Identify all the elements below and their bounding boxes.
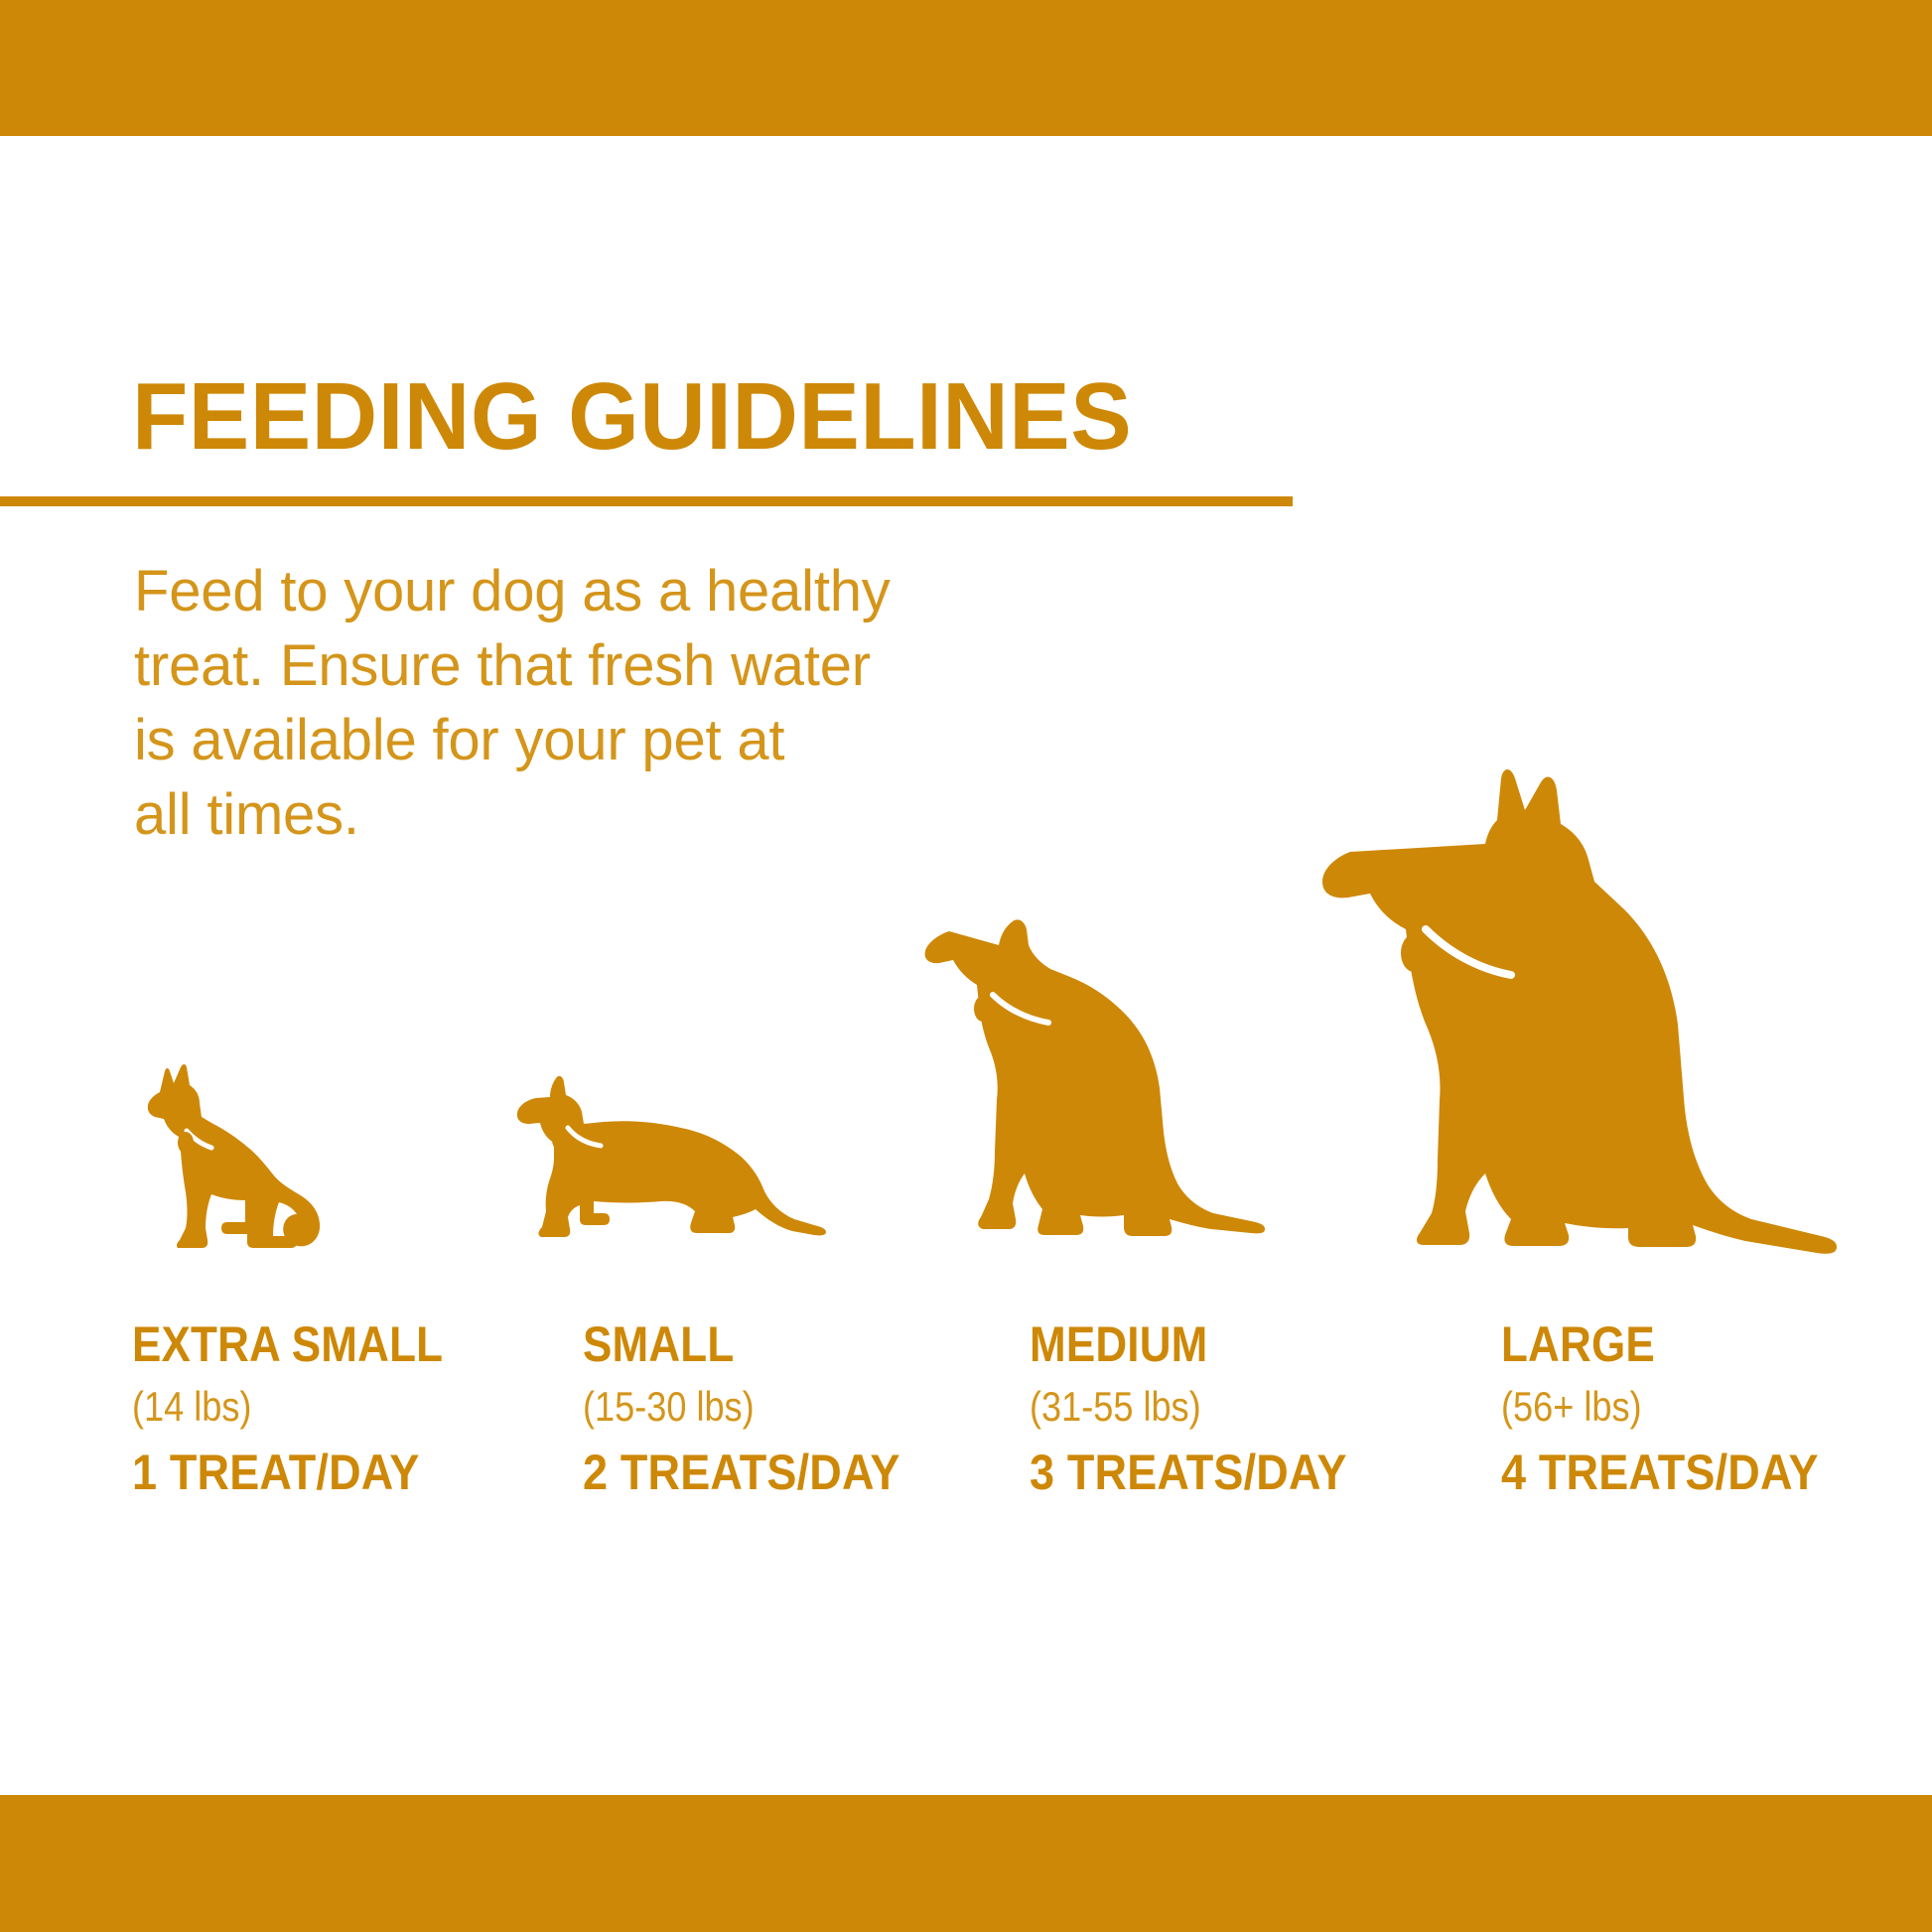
dog-large-icon (1320, 764, 1876, 1261)
size-weight: (56+ lbs) (1501, 1384, 1805, 1430)
size-column-large: LARGE (56+ lbs) 4 TREATS/DAY (1501, 1318, 1854, 1499)
dog-size-illustrations (0, 685, 1932, 1261)
page-title: FEEDING GUIDELINES (132, 369, 1132, 465)
size-weight: (15-30 lbs) (583, 1384, 887, 1430)
size-weight: (14 lbs) (132, 1384, 436, 1430)
size-dose: 1 TREAT/DAY (132, 1446, 450, 1499)
size-dose: 2 TREATS/DAY (583, 1446, 900, 1499)
instruction-line: Feed to your dog as a healthy (134, 554, 948, 628)
size-column-medium: MEDIUM (31-55 lbs) 3 TREATS/DAY (1030, 1318, 1382, 1499)
size-column-small: SMALL (15-30 lbs) 2 TREATS/DAY (583, 1318, 935, 1499)
title-underline-rule (0, 496, 1293, 506)
size-label-columns: EXTRA SMALL (14 lbs) 1 TREAT/DAY SMALL (… (0, 1318, 1932, 1517)
size-weight: (31-55 lbs) (1030, 1384, 1333, 1430)
size-dose: 3 TREATS/DAY (1030, 1446, 1347, 1499)
feeding-guidelines-panel: FEEDING GUIDELINES Feed to your dog as a… (0, 0, 1932, 1932)
top-accent-bar (0, 0, 1932, 136)
size-name: SMALL (583, 1318, 894, 1370)
size-name: LARGE (1501, 1318, 1812, 1370)
size-name: MEDIUM (1030, 1318, 1340, 1370)
dog-medium-icon (923, 913, 1311, 1261)
dog-small-icon (516, 1062, 834, 1261)
size-column-extra-small: EXTRA SMALL (14 lbs) 1 TREAT/DAY (132, 1318, 485, 1499)
size-dose: 4 TREATS/DAY (1501, 1446, 1819, 1499)
dog-extra-small-icon (124, 1047, 352, 1261)
bottom-accent-bar (0, 1795, 1932, 1932)
size-name: EXTRA SMALL (132, 1318, 443, 1370)
